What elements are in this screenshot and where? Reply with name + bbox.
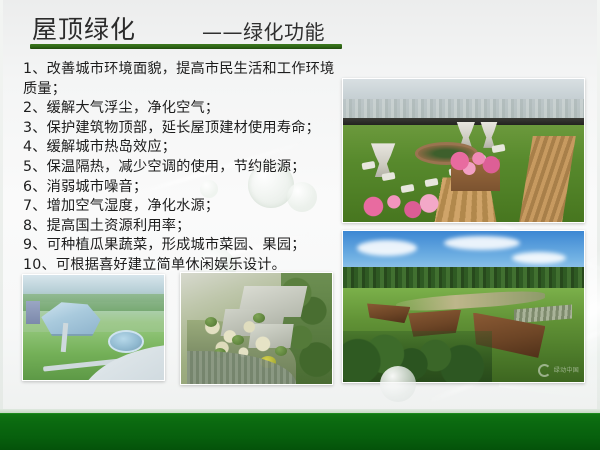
footer-bar — [0, 413, 600, 450]
curved-greenroof-photo — [180, 272, 333, 385]
photo-shrubbery — [343, 331, 492, 382]
watermark-label: 绿动中国 — [554, 367, 579, 374]
photo-watermark: 绿动中国 — [538, 364, 579, 377]
photo-cloud — [512, 252, 566, 264]
photo-pink-flowers — [444, 151, 507, 177]
list-item: 6、消弱城市噪音； — [23, 178, 348, 198]
left-edge-strip — [0, 0, 3, 413]
photo-cloud — [444, 236, 520, 250]
list-item: 5、保温隔热，减少空调的使用，节约能源； — [23, 158, 348, 178]
list-item: 3、保护建筑物顶部，延长屋顶建材使用寿命； — [23, 119, 348, 139]
list-item: 7、增加空气湿度，净化水源； — [23, 197, 348, 217]
photo-tower-block — [26, 301, 40, 324]
title-underline-rule — [30, 44, 342, 49]
slide-canvas: 屋顶绿化 ——绿化功能 1、改善城市环境面貌，提高市民生活和工作环境质量； 2、… — [0, 0, 600, 450]
list-item: 2、缓解大气浮尘，净化空气； — [23, 99, 348, 119]
photo-shrub — [275, 346, 287, 356]
page-title: 屋顶绿化 — [32, 14, 136, 46]
benefits-list: 1、改善城市环境面貌，提高市民生活和工作环境质量； 2、缓解大气浮尘，净化空气；… — [23, 60, 348, 276]
watermark-logo-icon — [538, 364, 551, 377]
list-item: 4、缓解城市热岛效应； — [23, 138, 348, 158]
list-item: 9、可种植瓜果蔬菜，形成城市菜园、果园； — [23, 236, 348, 256]
photo-distant-green — [23, 294, 164, 311]
page-subtitle: ——绿化功能 — [202, 17, 325, 47]
photo-round-building — [108, 330, 145, 353]
list-item: 8、提高国土资源利用率； — [23, 217, 348, 237]
aerial-complex-photo — [22, 274, 165, 381]
landscape-render-photo: 绿动中国 — [342, 230, 585, 383]
list-item: 1、改善城市环境面貌，提高市民生活和工作环境质量； — [23, 60, 348, 99]
photo-pink-flowers — [357, 191, 439, 222]
rooftop-garden-photo — [342, 78, 585, 223]
